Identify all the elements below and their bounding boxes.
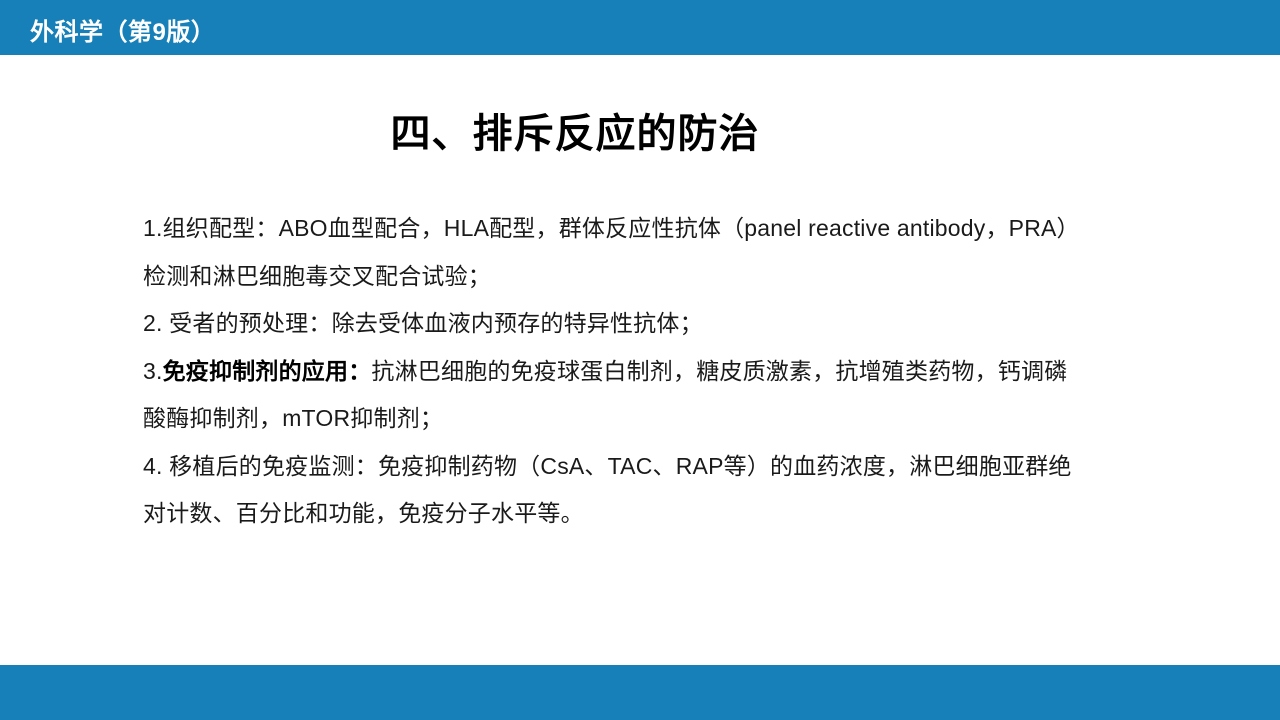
- body-item-2-text: 除去受体血液内预存的特异性抗体；: [332, 310, 703, 336]
- body-item-4-lead: 4. 移植后的免疫监测：: [143, 453, 378, 479]
- body-item-3-lead: 3.: [143, 358, 163, 384]
- body-item-1-text: ABO血型配合，HLA配型，群体反应性抗体（panel reactive ant…: [143, 215, 1068, 289]
- book-title: 外科学（第9版）: [30, 12, 215, 47]
- body-item-2-lead: 2. 受者的预处理：: [143, 310, 332, 336]
- body-item-1: 1.组织配型：ABO血型配合，HLA配型，群体反应性抗体（panel react…: [143, 205, 1073, 300]
- body-item-4: 4. 移植后的免疫监测：免疫抑制药物（CsA、TAC、RAP等）的血药浓度，淋巴…: [143, 443, 1073, 538]
- slide-body-content: 1.组织配型：ABO血型配合，HLA配型，群体反应性抗体（panel react…: [143, 205, 1073, 538]
- body-item-1-lead: 1.组织配型：: [143, 215, 279, 241]
- body-item-3: 3.免疫抑制剂的应用：抗淋巴细胞的免疫球蛋白制剂，糖皮质激素，抗增殖类药物，钙调…: [143, 348, 1073, 443]
- presentation-slide: 外科学（第9版） 四、排斥反应的防治 1.组织配型：ABO血型配合，HLA配型，…: [0, 0, 1280, 720]
- slide-header-bar: 外科学（第9版）: [0, 0, 1280, 55]
- body-item-2: 2. 受者的预处理：除去受体血液内预存的特异性抗体；: [143, 300, 1073, 348]
- page-title: 四、排斥反应的防治: [0, 108, 1150, 160]
- slide-footer-bar: [0, 665, 1280, 720]
- body-item-3-emphasis: 免疫抑制剂的应用：: [163, 358, 372, 384]
